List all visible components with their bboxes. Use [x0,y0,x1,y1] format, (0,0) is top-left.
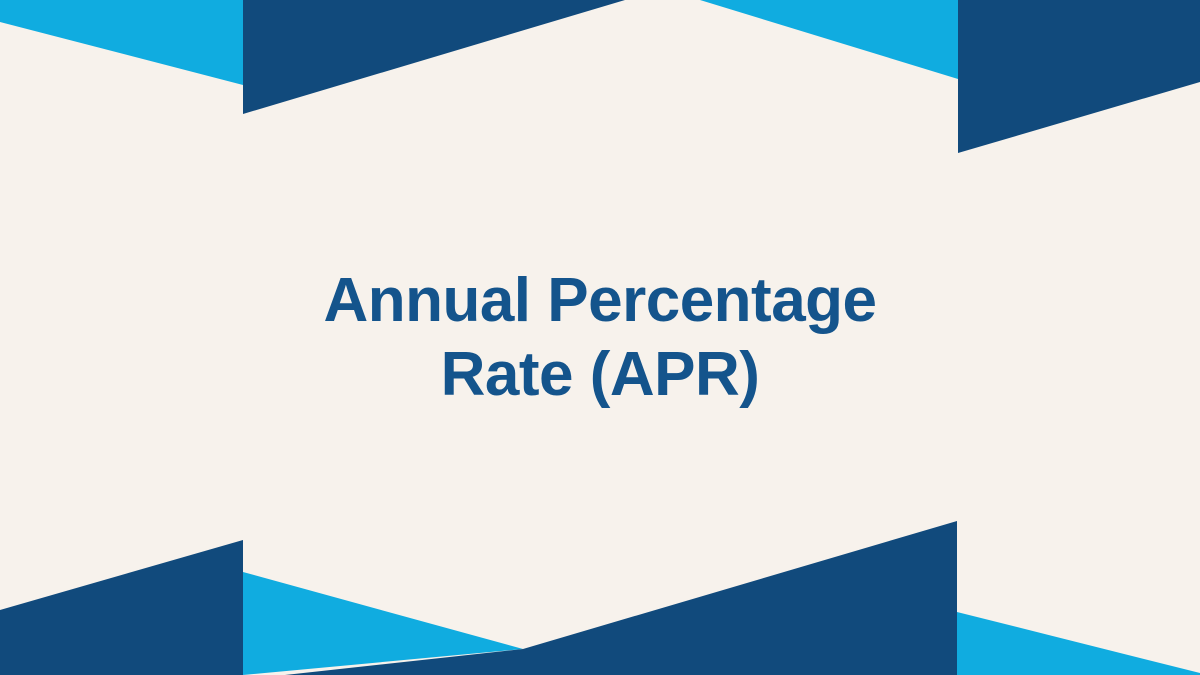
page-title: Annual Percentage Rate (APR) [260,264,940,410]
slide-title-block: Annual Percentage Rate (APR) [0,0,1200,675]
presentation-slide: Annual Percentage Rate (APR) [0,0,1200,675]
